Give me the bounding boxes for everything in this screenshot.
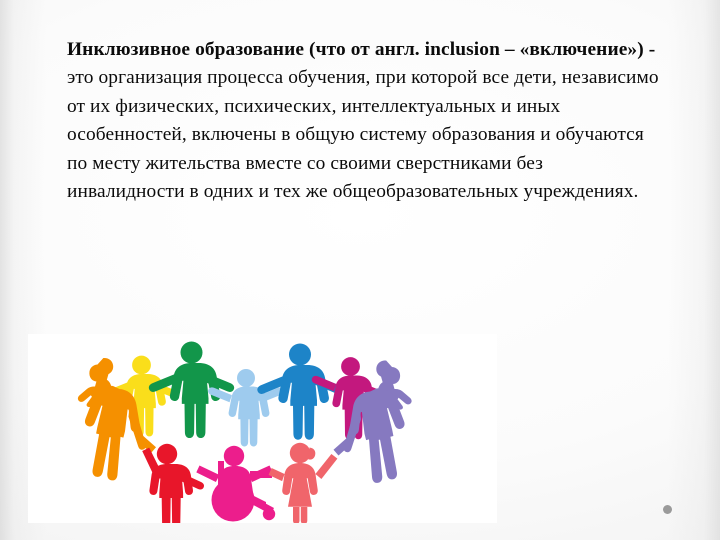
slide: Инклюзивное образование (что от англ. in…: [0, 0, 720, 540]
figure-child-coral: [269, 443, 338, 523]
illustration-panel: [28, 334, 497, 523]
people-holding-hands-heart-icon: [28, 334, 497, 523]
slide-lead-text: Инклюзивное образование (что от англ. in…: [67, 39, 655, 60]
slide-body-text: Инклюзивное образование (что от англ. in…: [67, 36, 663, 206]
figure-person-in-wheelchair: [196, 446, 275, 522]
bullet-dot: [663, 505, 672, 514]
figure-child-red: [142, 444, 204, 523]
slide-rest-text: это организация процесса обучения, при к…: [67, 67, 659, 202]
